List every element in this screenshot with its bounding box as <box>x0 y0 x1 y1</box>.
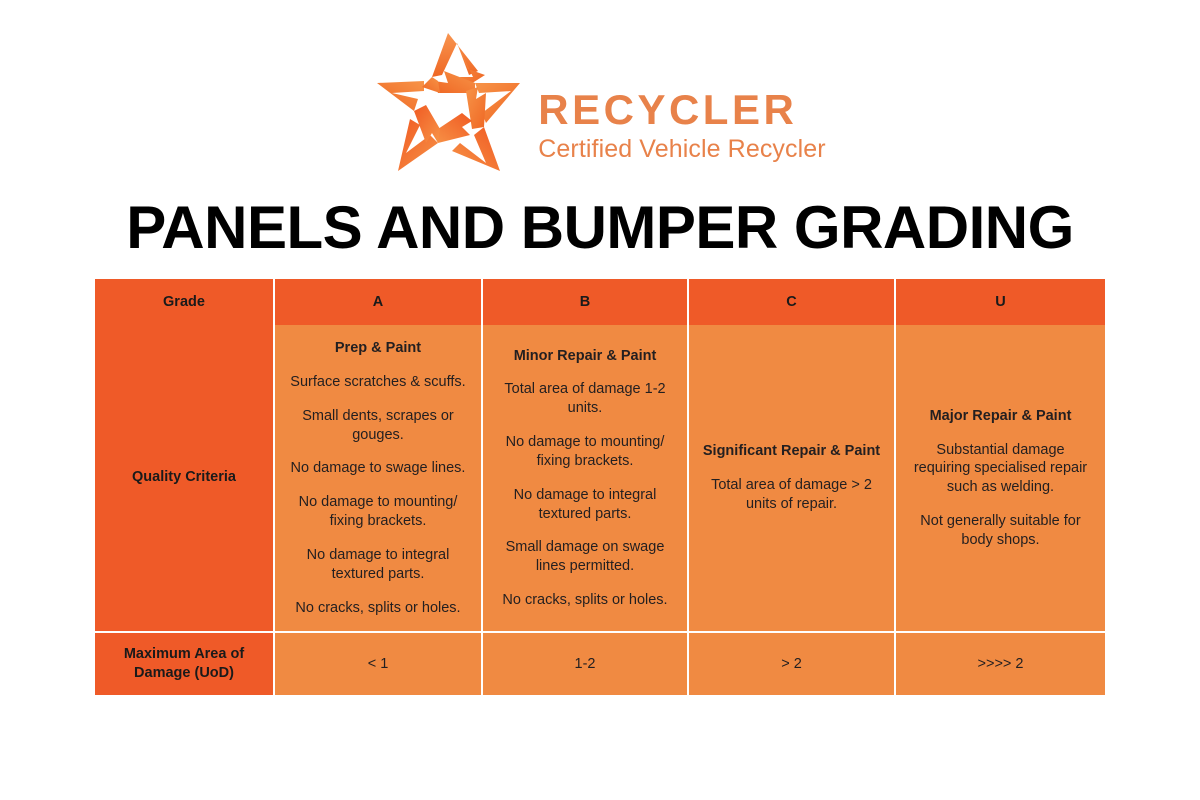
criteria-line: Small dents, scrapes or gouges. <box>287 407 469 445</box>
criteria-line: Substantial damage requiring specialised… <box>908 441 1093 498</box>
criteria-heading-u: Major Repair & Paint <box>908 407 1093 426</box>
criteria-cell-a: Prep & Paint Surface scratches & scuffs.… <box>275 325 483 633</box>
criteria-line: No damage to swage lines. <box>287 459 469 478</box>
criteria-lines-b: Total area of damage 1-2 units. No damag… <box>495 380 675 610</box>
row-label-quality-criteria: Quality Criteria <box>95 325 275 633</box>
criteria-lines-u: Substantial damage requiring specialised… <box>908 441 1093 550</box>
criteria-line: Small damage on swage lines permitted. <box>495 538 675 576</box>
table-row-max-area-of-damage: Maximum Area of Damage (UoD) < 1 1-2 > 2… <box>95 633 1105 695</box>
table-header-row: Grade A B C U <box>95 279 1105 325</box>
uod-value-b: 1-2 <box>483 633 689 695</box>
logo-title: RECYCLER <box>538 89 825 131</box>
uod-value-u: >>>> 2 <box>896 633 1105 695</box>
header-cell-grade-a: A <box>275 279 483 325</box>
logo-block: RECYCLER Certified Vehicle Recycler <box>0 30 1200 180</box>
uod-value-a: < 1 <box>275 633 483 695</box>
criteria-line: No damage to mounting/ fixing brackets. <box>495 433 675 471</box>
grading-poster: RECYCLER Certified Vehicle Recycler PANE… <box>0 0 1200 800</box>
page-title: PANELS AND BUMPER GRADING <box>0 195 1200 261</box>
criteria-cell-c: Significant Repair & Paint Total area of… <box>689 325 896 633</box>
logo-subtitle: Certified Vehicle Recycler <box>538 131 825 169</box>
criteria-line: No cracks, splits or holes. <box>287 599 469 618</box>
uod-value-c: > 2 <box>689 633 896 695</box>
table-row-quality-criteria: Quality Criteria Prep & Paint Surface sc… <box>95 325 1105 633</box>
criteria-line: No damage to integral textured parts. <box>287 546 469 584</box>
recycler-star-logo <box>374 31 524 179</box>
criteria-line: Not generally suitable for body shops. <box>908 512 1093 550</box>
criteria-line: Surface scratches & scuffs. <box>287 373 469 392</box>
header-cell-grade-c: C <box>689 279 896 325</box>
criteria-line: Total area of damage > 2 units of repair… <box>701 476 882 514</box>
header-cell-grade-b: B <box>483 279 689 325</box>
table-body: Quality Criteria Prep & Paint Surface sc… <box>95 325 1105 695</box>
criteria-lines-a: Surface scratches & scuffs. Small dents,… <box>287 373 469 618</box>
criteria-heading-b: Minor Repair & Paint <box>495 347 675 366</box>
criteria-cell-u: Major Repair & Paint Substantial damage … <box>896 325 1105 633</box>
header-cell-grade: Grade <box>95 279 275 325</box>
criteria-cell-b: Minor Repair & Paint Total area of damag… <box>483 325 689 633</box>
criteria-lines-c: Total area of damage > 2 units of repair… <box>701 476 882 514</box>
table-head: Grade A B C U <box>95 279 1105 325</box>
criteria-line: Total area of damage 1-2 units. <box>495 380 675 418</box>
header-cell-grade-u: U <box>896 279 1105 325</box>
row-label-max-area-of-damage: Maximum Area of Damage (UoD) <box>95 633 275 695</box>
criteria-heading-a: Prep & Paint <box>287 339 469 358</box>
criteria-heading-c: Significant Repair & Paint <box>701 442 882 461</box>
criteria-line: No damage to mounting/ fixing brackets. <box>287 493 469 531</box>
criteria-line: No damage to integral textured parts. <box>495 486 675 524</box>
grading-table: Grade A B C U Quality Criteria Prep & Pa… <box>95 279 1105 695</box>
criteria-line: No cracks, splits or holes. <box>495 591 675 610</box>
logo-wordmark: RECYCLER Certified Vehicle Recycler <box>538 41 825 169</box>
